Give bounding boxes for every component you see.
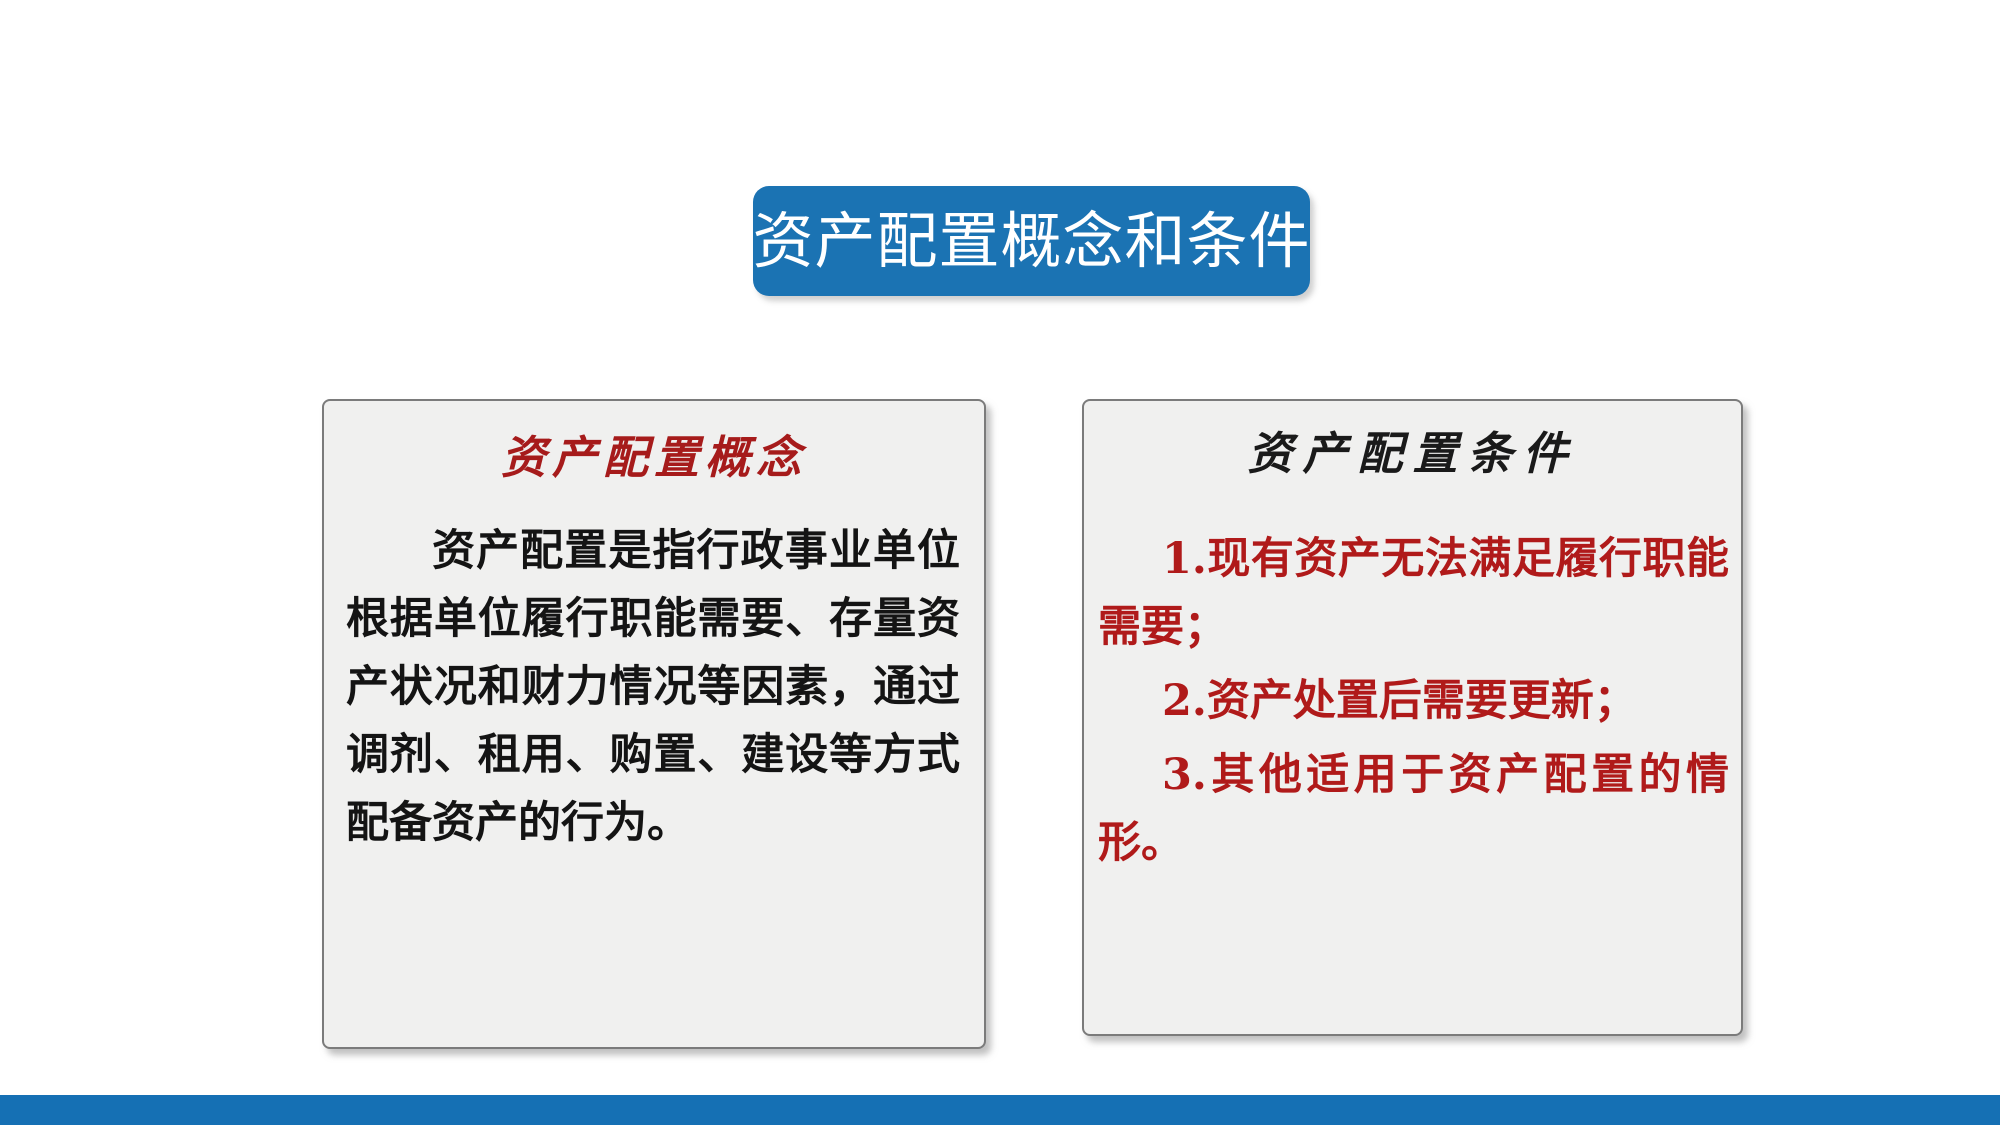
- card-conditions-heading: 资产配置条件: [1084, 429, 1741, 479]
- card-asset-allocation-concept: 资产配置概念 资产配置是指行政事业单位根据单位履行职能需要、存量资产状况和财力情…: [322, 399, 986, 1049]
- card-asset-allocation-conditions: 资产配置条件 1.现有资产无法满足履行职能需要； 2.资产处置后需要更新； 3.…: [1082, 399, 1743, 1036]
- card-concept-heading: 资产配置概念: [324, 433, 984, 483]
- page-title: 资产配置概念和条件: [753, 211, 1311, 272]
- condition-item-1: 1.现有资产无法满足履行职能需要；: [1098, 525, 1729, 661]
- card-concept-body: 资产配置是指行政事业单位根据单位履行职能需要、存量资产状况和财力情况等因素，通过…: [346, 517, 960, 857]
- slide-canvas: 资产配置概念和条件 资产配置概念 资产配置是指行政事业单位根据单位履行职能需要、…: [0, 0, 2000, 1125]
- condition-item-3: 3.其他适用于资产配置的情形。: [1098, 741, 1729, 877]
- card-conditions-body: 1.现有资产无法满足履行职能需要； 2.资产处置后需要更新； 3.其他适用于资产…: [1098, 525, 1729, 877]
- condition-item-2: 2.资产处置后需要更新；: [1098, 667, 1729, 735]
- footer-accent-bar: [0, 1095, 2000, 1125]
- slide-title-banner: 资产配置概念和条件: [753, 186, 1310, 296]
